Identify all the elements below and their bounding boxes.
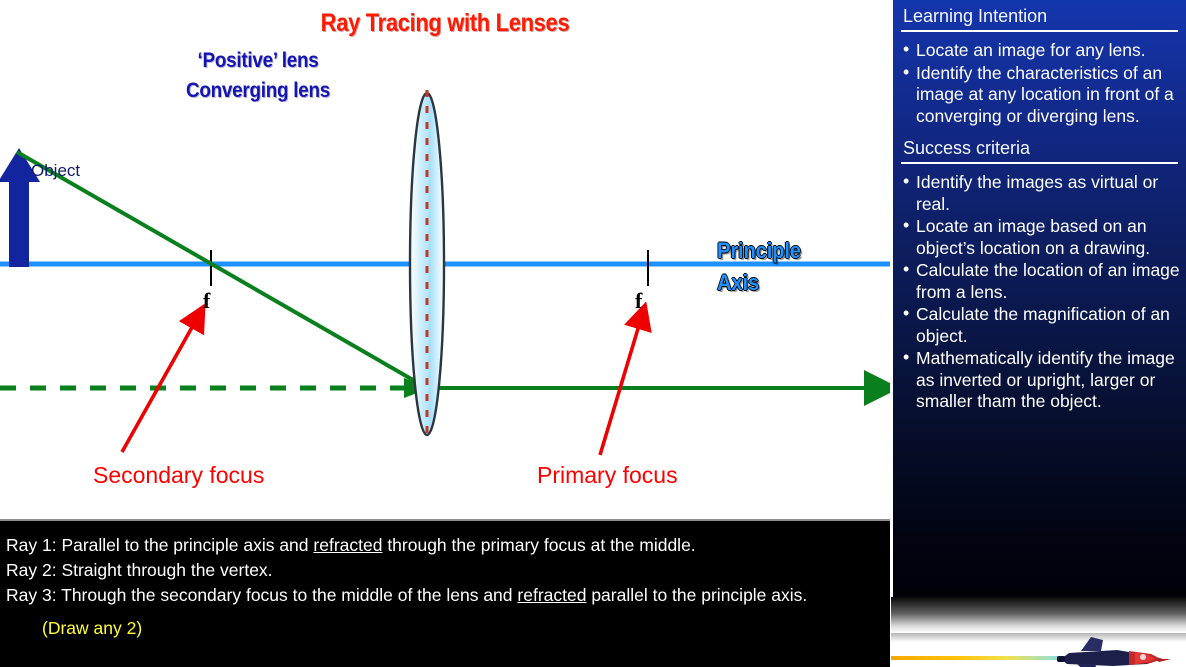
focal-length-label-left: f xyxy=(203,288,210,314)
list-item: Identify the characteristics of an image… xyxy=(903,63,1180,128)
jet-plane-icon xyxy=(1051,635,1171,667)
objectives-panel: Learning Intention Locate an image for a… xyxy=(891,0,1186,597)
list-item: Calculate the location of an image from … xyxy=(903,260,1180,303)
note-ray3-post: parallel to the principle axis. xyxy=(586,585,807,605)
slide-footer: 36 xyxy=(891,597,1186,667)
primary-focus-caption: Primary focus xyxy=(537,462,678,489)
principal-axis-label: Principle Axis xyxy=(717,235,801,299)
note-ray-1: Ray 1: Parallel to the principle axis an… xyxy=(6,533,890,558)
success-criteria-divider xyxy=(901,162,1178,164)
jet-trail xyxy=(891,656,1076,660)
note-ray1-post: through the primary focus at the middle. xyxy=(382,535,695,555)
success-criteria-heading: Success criteria xyxy=(893,128,1186,162)
slide: Ray Tracing with Lenses ‘Positive’ lens … xyxy=(0,0,1186,667)
learning-intention-divider xyxy=(901,30,1178,32)
note-ray1-pre: Ray 1: Parallel to the principle axis an… xyxy=(6,535,313,555)
principal-axis-label-line2: Axis xyxy=(717,270,759,295)
note-ray3-pre: Ray 3: Through the secondary focus to th… xyxy=(6,585,517,605)
learning-intention-heading: Learning Intention xyxy=(893,0,1186,30)
note-ray3-underline: refracted xyxy=(517,585,586,605)
list-item: Mathematically identify the image as inv… xyxy=(903,348,1180,413)
page-number: 36 xyxy=(1160,645,1176,661)
list-item: Calculate the magnification of an object… xyxy=(903,304,1180,347)
incident-ray-through-focus xyxy=(17,152,427,388)
list-item: Identify the images as virtual or real. xyxy=(903,172,1180,215)
focal-length-label-right: f xyxy=(635,288,642,314)
draw-any-note: (Draw any 2) xyxy=(42,618,890,639)
success-criteria-list: Identify the images as virtual or real. … xyxy=(893,168,1186,413)
note-ray-2: Ray 2: Straight through the vertex. xyxy=(6,558,890,583)
list-item: Locate an image for any lens. xyxy=(903,40,1180,62)
notes-panel: Ray 1: Parallel to the principle axis an… xyxy=(0,519,890,667)
diagram-canvas: Ray Tracing with Lenses ‘Positive’ lens … xyxy=(0,0,890,519)
principal-axis-label-line1: Principle xyxy=(717,238,801,263)
secondary-focus-caption: Secondary focus xyxy=(93,462,264,489)
footer-gradient xyxy=(891,597,1186,633)
note-ray-3: Ray 3: Through the secondary focus to th… xyxy=(6,583,890,608)
list-item: Locate an image based on an object’s loc… xyxy=(903,216,1180,259)
learning-intention-list: Locate an image for any lens. Identify t… xyxy=(893,36,1186,127)
note-ray1-underline: refracted xyxy=(313,535,382,555)
object-label: Object xyxy=(31,161,80,181)
